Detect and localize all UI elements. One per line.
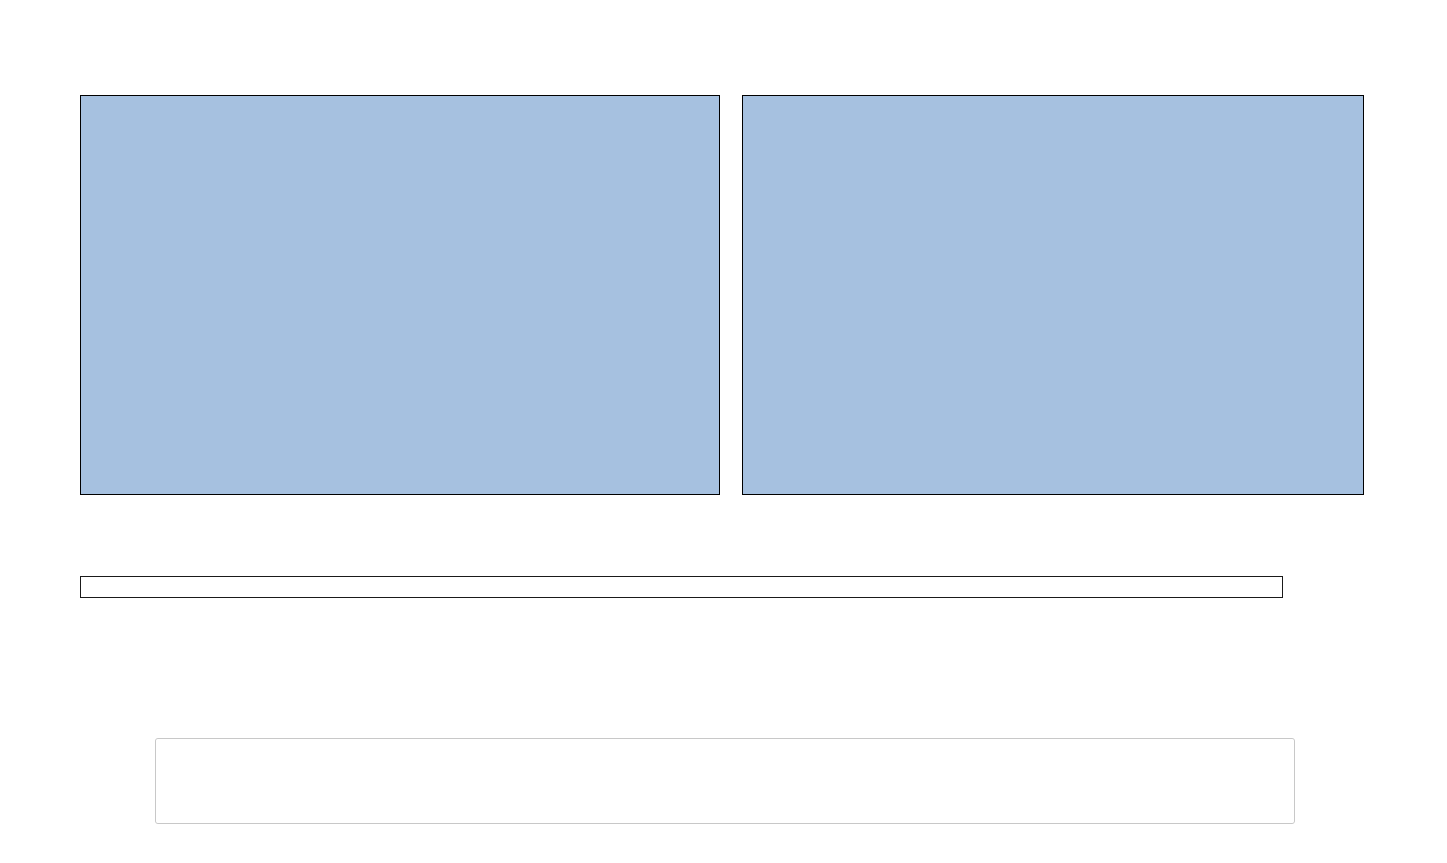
- colorbar-bands: [80, 576, 1283, 598]
- map-panel-rtofs[interactable]: [80, 95, 720, 495]
- legend: [155, 738, 1295, 824]
- legend-grid: [166, 748, 1284, 814]
- current-field-rtofs: [81, 96, 720, 495]
- map-panel-cmems[interactable]: [742, 95, 1364, 495]
- colorbar: [80, 576, 1364, 598]
- current-field-cmems: [743, 96, 1364, 495]
